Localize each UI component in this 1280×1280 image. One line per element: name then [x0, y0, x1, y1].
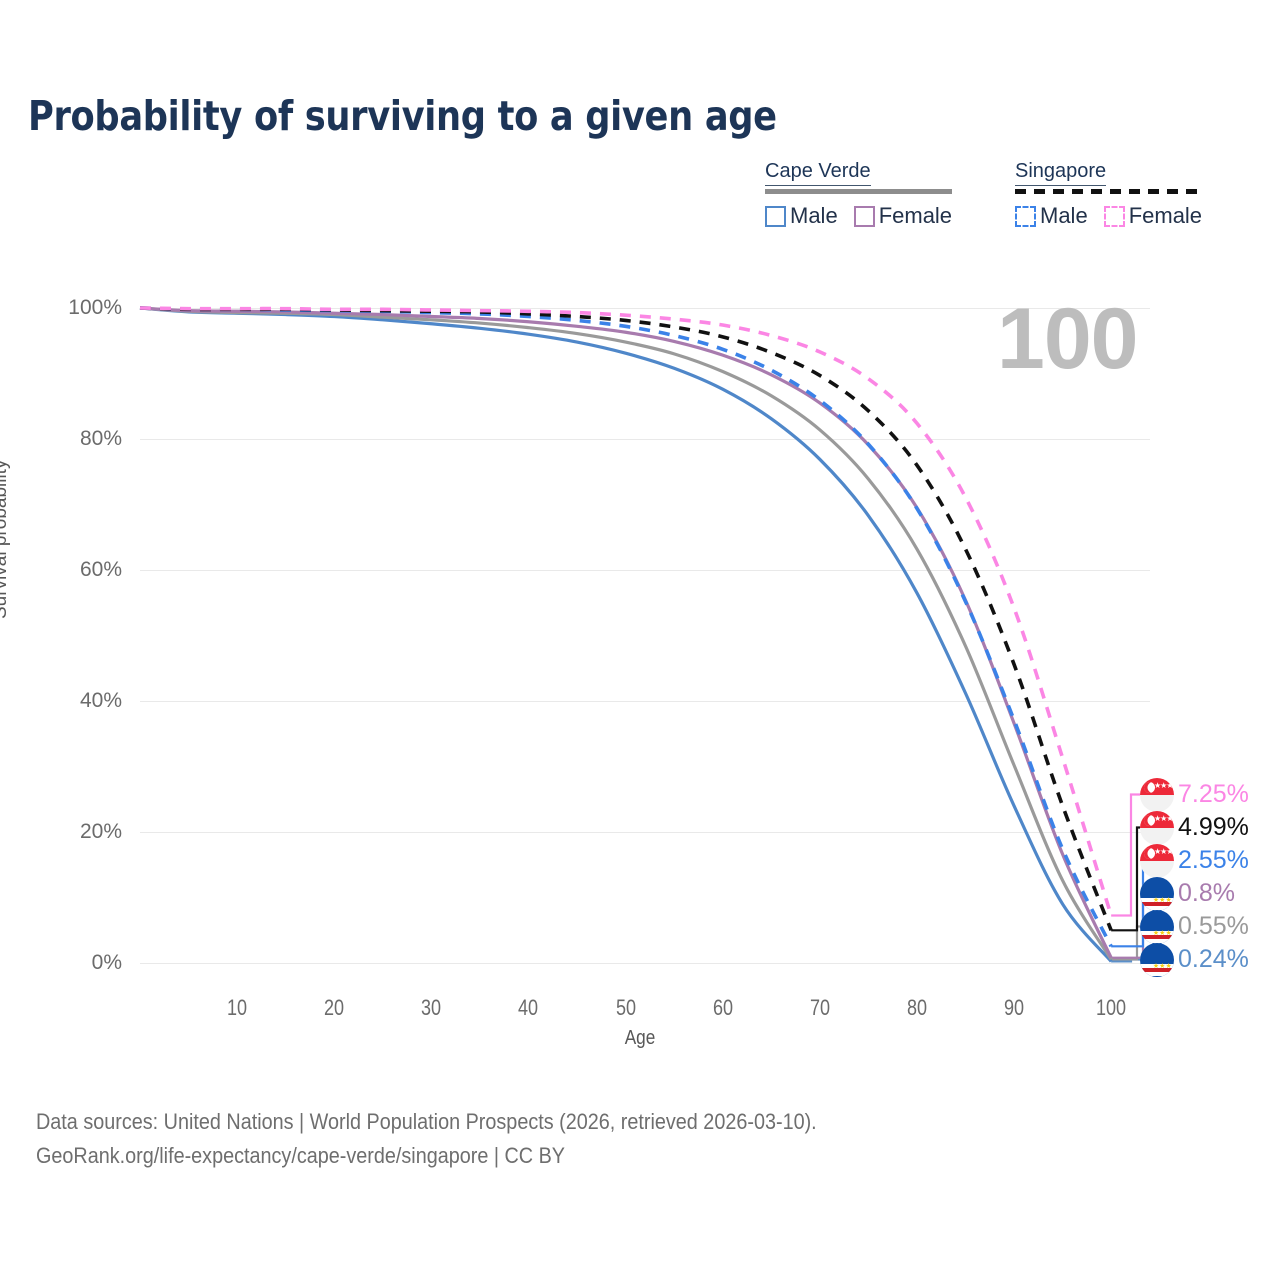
singapore-flag-icon: ★★★★★ [1140, 778, 1174, 812]
series-end-value: 2.55% [1178, 846, 1249, 875]
series-line [140, 308, 1111, 930]
footer-line-2: GeoRank.org/life-expectancy/cape-verde/s… [36, 1139, 817, 1173]
singapore-flag-icon: ★★★★★ [1140, 844, 1174, 878]
cape-verde-flag-icon: ★★★ [1140, 877, 1174, 911]
footer-credits: Data sources: United Nations | World Pop… [36, 1105, 903, 1173]
series-end-label: ★★★0.55% [1140, 910, 1249, 943]
series-end-label: ★★★★★7.25% [1140, 778, 1249, 811]
end-label-leader-line [1111, 795, 1140, 916]
series-end-label: ★★★0.8% [1140, 877, 1235, 910]
series-end-label: ★★★★★2.55% [1140, 844, 1249, 877]
series-end-value: 0.8% [1178, 879, 1235, 908]
cape-verde-flag-icon: ★★★ [1140, 943, 1174, 977]
series-lines-layer [0, 0, 1280, 1280]
series-end-value: 7.25% [1178, 780, 1249, 809]
series-end-value: 0.24% [1178, 945, 1249, 974]
series-end-label: ★★★0.24% [1140, 943, 1249, 976]
series-line [140, 308, 1111, 959]
series-end-value: 0.55% [1178, 912, 1249, 941]
series-line [140, 308, 1111, 946]
series-line [140, 308, 1111, 961]
chart-container: Probability of surviving to a given age … [0, 0, 1280, 1280]
series-end-value: 4.99% [1178, 813, 1249, 842]
series-line [140, 308, 1111, 916]
cape-verde-flag-icon: ★★★ [1140, 910, 1174, 944]
series-end-label: ★★★★★4.99% [1140, 811, 1249, 844]
series-line [140, 308, 1111, 958]
footer-line-1: Data sources: United Nations | World Pop… [36, 1105, 817, 1139]
singapore-flag-icon: ★★★★★ [1140, 811, 1174, 845]
